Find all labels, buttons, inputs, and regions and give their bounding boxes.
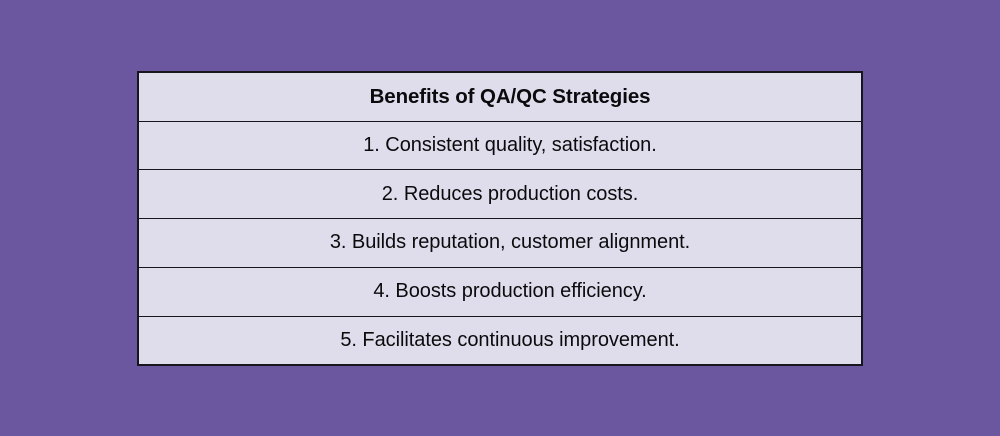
benefit-cell-2: 2. Reduces production costs. bbox=[138, 170, 862, 219]
benefit-cell-3: 3. Builds reputation, customer alignment… bbox=[138, 219, 862, 268]
table-header-cell: Benefits of QA/QC Strategies bbox=[138, 72, 862, 121]
table-row: 4. Boosts production efficiency. bbox=[138, 267, 862, 316]
benefits-table-body: Benefits of QA/QC Strategies 1. Consiste… bbox=[138, 72, 862, 365]
table-row: 5. Facilitates continuous improvement. bbox=[138, 316, 862, 365]
benefits-table-container: Benefits of QA/QC Strategies 1. Consiste… bbox=[137, 71, 863, 364]
table-header-row: Benefits of QA/QC Strategies bbox=[138, 72, 862, 121]
slide-canvas: Benefits of QA/QC Strategies 1. Consiste… bbox=[0, 0, 1000, 436]
table-row: 3. Builds reputation, customer alignment… bbox=[138, 219, 862, 268]
benefits-table: Benefits of QA/QC Strategies 1. Consiste… bbox=[137, 71, 863, 366]
table-row: 2. Reduces production costs. bbox=[138, 170, 862, 219]
benefit-cell-1: 1. Consistent quality, satisfaction. bbox=[138, 121, 862, 170]
benefit-cell-5: 5. Facilitates continuous improvement. bbox=[138, 316, 862, 365]
table-row: 1. Consistent quality, satisfaction. bbox=[138, 121, 862, 170]
benefit-cell-4: 4. Boosts production efficiency. bbox=[138, 267, 862, 316]
